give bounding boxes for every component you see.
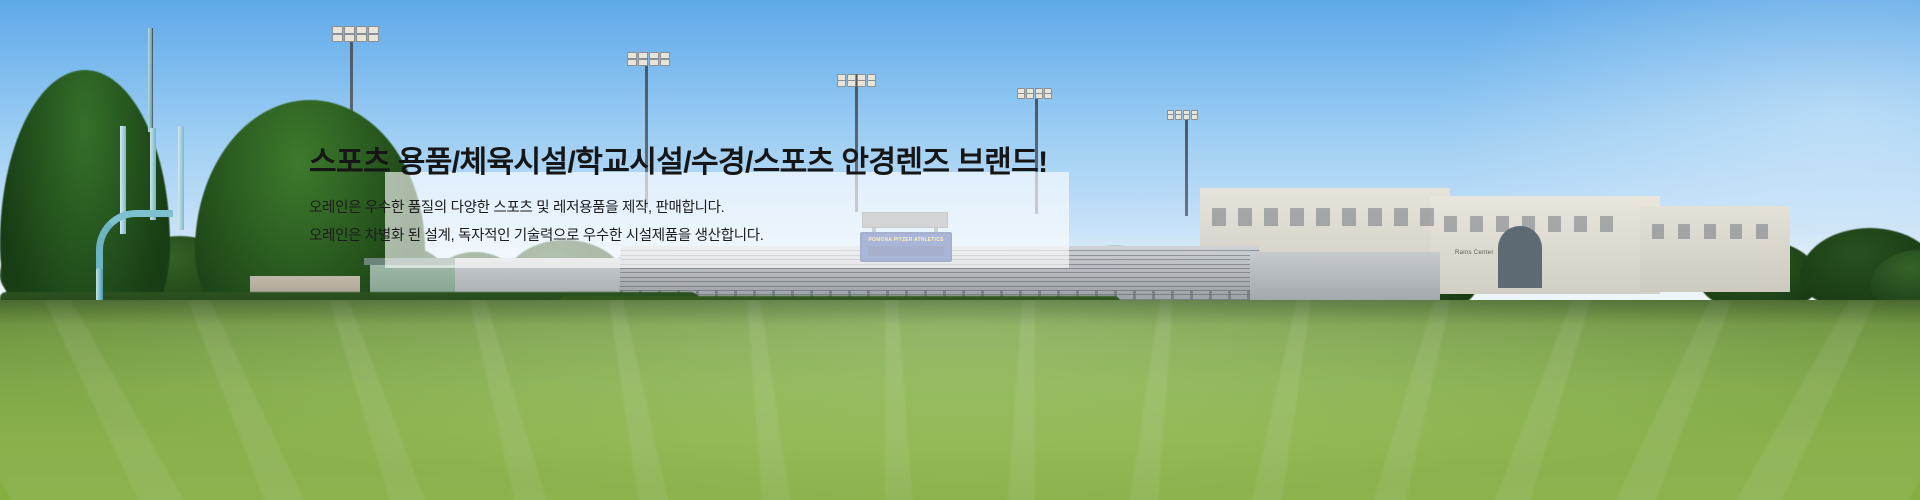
goalpost-gooseneck [96,210,173,279]
hero-banner: Rains Center POMONA PITZER ATHLETICS 스포츠… [0,0,1920,500]
campus-building-right [1430,196,1660,294]
hero-subtext-line-1: 오레인은 우수한 품질의 다양한 스포츠 및 레저용품을 제작, 판매합니다. [309,196,724,217]
bleachers-right [1250,252,1440,306]
hero-text-group: 스포츠 용품/체육시설/학교시설/수경/스포츠 안경렌즈 브랜드! 오레인은 우… [347,172,1107,272]
goalpost-upright-pole [148,28,152,132]
hero-subtext-line-2: 오레인은 차별화 된 설계, 독자적인 기술력으로 우수한 시설제품을 생산합니… [309,224,764,245]
building-arch [1498,226,1542,288]
building-label: Rains Center [1455,250,1494,256]
field-vignette [0,300,1920,500]
goalpost-upright-right [178,126,184,230]
hero-headline: 스포츠 용품/체육시설/학교시설/수경/스포츠 안경렌즈 브랜드! [309,148,1048,178]
goalpost-crossbar [150,128,156,220]
campus-building-far-right [1640,206,1790,292]
